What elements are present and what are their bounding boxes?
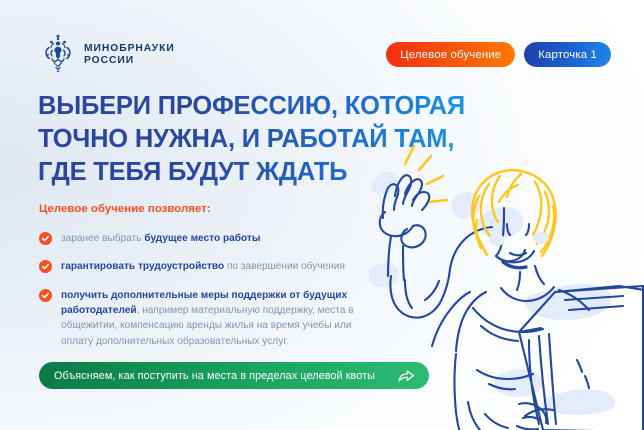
poster-root: МИНОБРНАУКИ РОССИИ Целевое обучение Карт… [0,0,644,430]
lead-text: Целевое обучение позволяет: [39,203,211,215]
check-circle-icon [39,232,52,245]
badge-group: Целевое обучение Карточка 1 [386,42,611,67]
check-circle-icon [39,260,52,273]
bullet-1-bold: будущее место работы [144,233,260,244]
woman-with-books-ok-gesture-illustration [369,140,644,430]
list-item-text: заранее выбрать будущее место работы [61,231,261,246]
list-item: заранее выбрать будущее место работы [39,231,369,246]
cta-label: Объясняем, как поступить на места в пред… [54,370,397,382]
logo-line-2: РОССИИ [84,55,175,67]
badge-card-number[interactable]: Карточка 1 [524,42,611,67]
benefits-list: заранее выбрать будущее место работы гар… [39,231,369,349]
ministry-logo: МИНОБРНАУКИ РОССИИ [41,33,175,77]
check-circle-icon [39,289,52,302]
bullet-2-bold: гарантировать трудоустройство [61,261,224,272]
list-item: гарантировать трудоустройство по заверше… [39,259,369,274]
logo-line-1: МИНОБРНАУКИ [84,43,175,55]
list-item-text: получить дополнительные меры поддержки о… [61,288,369,349]
badge-target-training[interactable]: Целевое обучение [386,42,515,67]
bullet-2-plain-after: по завершении обучения [224,261,345,272]
list-item-text: гарантировать трудоустройство по заверше… [61,259,345,274]
list-item: получить дополнительные меры поддержки о… [39,288,369,349]
russian-coat-of-arms-icon [41,33,75,77]
bullet-1-plain-before: заранее выбрать [61,233,144,244]
